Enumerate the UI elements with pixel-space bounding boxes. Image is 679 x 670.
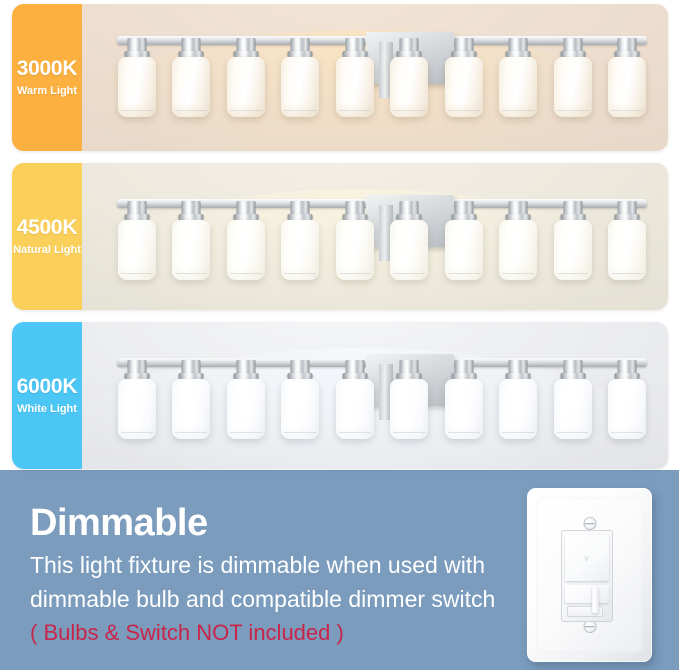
vanity-light-fixture-4500k bbox=[117, 191, 647, 287]
lamp-shade bbox=[281, 220, 319, 280]
dimmable-disclaimer: ( Bulbs & Switch NOT included ) bbox=[30, 620, 344, 646]
lamp-shade bbox=[608, 220, 646, 280]
switch-paddle-frame: ∨ bbox=[561, 530, 613, 622]
lamp-shade bbox=[390, 57, 428, 117]
lamp-shade bbox=[499, 57, 537, 117]
lamp bbox=[553, 360, 593, 446]
cct-tab-4500k: 4500K Natural Light bbox=[12, 163, 82, 310]
wall-scene-6000k bbox=[12, 322, 668, 469]
lamp bbox=[389, 201, 429, 287]
lamp-shade bbox=[554, 57, 592, 117]
switch-wall-plate: ∨ bbox=[527, 488, 652, 662]
lamp bbox=[389, 38, 429, 124]
lamp bbox=[335, 38, 375, 124]
cct-tab-3000k: 3000K Warm Light bbox=[12, 4, 82, 151]
wall-scene-3000k bbox=[12, 4, 668, 151]
lamp bbox=[280, 38, 320, 124]
lamp bbox=[607, 38, 647, 124]
lamp-shade bbox=[336, 379, 374, 439]
switch-slider-knob bbox=[592, 587, 599, 613]
lamp-shade bbox=[172, 379, 210, 439]
lamp bbox=[226, 360, 266, 446]
lamp bbox=[444, 38, 484, 124]
lamp bbox=[117, 360, 157, 446]
wall-scene-4500k bbox=[12, 163, 668, 310]
lamp-shade bbox=[390, 220, 428, 280]
lamp bbox=[498, 360, 538, 446]
lamp-shade bbox=[118, 379, 156, 439]
lamp bbox=[444, 201, 484, 287]
cct-kelvin-value: 6000K bbox=[17, 375, 77, 399]
lamp bbox=[117, 38, 157, 124]
lamp bbox=[498, 38, 538, 124]
chevron-down-icon: ∨ bbox=[583, 553, 591, 564]
lamp-shade bbox=[118, 57, 156, 117]
cct-name-label: White Light bbox=[17, 403, 77, 416]
lamp bbox=[335, 201, 375, 287]
lamp-shade bbox=[172, 57, 210, 117]
lamp bbox=[553, 38, 593, 124]
screw-icon bbox=[583, 517, 596, 530]
lamp bbox=[553, 201, 593, 287]
color-temperature-panel-6000k: 6000K White Light bbox=[12, 322, 668, 469]
lamp-shade bbox=[554, 220, 592, 280]
lamp-shade bbox=[281, 379, 319, 439]
lamp bbox=[280, 360, 320, 446]
lamp-shade bbox=[118, 220, 156, 280]
lamp-shade bbox=[390, 379, 428, 439]
cct-kelvin-value: 4500K bbox=[17, 216, 77, 240]
lamp bbox=[117, 201, 157, 287]
dimmable-description-line-1: This light fixture is dimmable when used… bbox=[30, 552, 485, 579]
color-temperature-panel-3000k: 3000K Warm Light bbox=[12, 4, 668, 151]
lamp-shade bbox=[227, 379, 265, 439]
cct-kelvin-value: 3000K bbox=[17, 57, 77, 81]
lamp-shade bbox=[608, 379, 646, 439]
lamp-shade bbox=[554, 379, 592, 439]
lamp bbox=[171, 201, 211, 287]
vanity-light-fixture-3000k bbox=[117, 28, 647, 124]
lamp-shade bbox=[445, 57, 483, 117]
lamp-row bbox=[117, 360, 647, 446]
lamp bbox=[498, 201, 538, 287]
cct-name-label: Natural Light bbox=[13, 244, 81, 257]
lamp bbox=[335, 360, 375, 446]
dimmer-switch-photo: ∨ bbox=[527, 488, 652, 662]
lamp bbox=[389, 360, 429, 446]
lamp-shade bbox=[499, 220, 537, 280]
lamp bbox=[444, 360, 484, 446]
lamp-row bbox=[117, 38, 647, 124]
lamp-shade bbox=[281, 57, 319, 117]
dimmable-description-line-2: dimmable bulb and compatible dimmer swit… bbox=[30, 586, 495, 613]
lamp-shade bbox=[336, 57, 374, 117]
lamp-shade bbox=[608, 57, 646, 117]
lamp bbox=[226, 201, 266, 287]
lamp bbox=[171, 360, 211, 446]
cct-name-label: Warm Light bbox=[17, 85, 77, 98]
lamp-shade bbox=[445, 379, 483, 439]
color-temperature-panel-4500k: 4500K Natural Light bbox=[12, 163, 668, 310]
switch-paddle-large: ∨ bbox=[565, 535, 609, 581]
switch-paddle-small bbox=[565, 585, 609, 603]
vanity-light-fixture-6000k bbox=[117, 350, 647, 446]
lamp-row bbox=[117, 201, 647, 287]
lamp bbox=[607, 360, 647, 446]
lamp-shade bbox=[445, 220, 483, 280]
dimmable-heading: Dimmable bbox=[30, 502, 208, 545]
product-infographic: 3000K Warm Light bbox=[0, 0, 679, 670]
cct-tab-6000k: 6000K White Light bbox=[12, 322, 82, 469]
lamp bbox=[171, 38, 211, 124]
lamp-shade bbox=[172, 220, 210, 280]
lamp bbox=[226, 38, 266, 124]
lamp bbox=[607, 201, 647, 287]
lamp-shade bbox=[227, 220, 265, 280]
lamp-shade bbox=[227, 57, 265, 117]
lamp-shade bbox=[336, 220, 374, 280]
lamp bbox=[280, 201, 320, 287]
lamp-shade bbox=[499, 379, 537, 439]
